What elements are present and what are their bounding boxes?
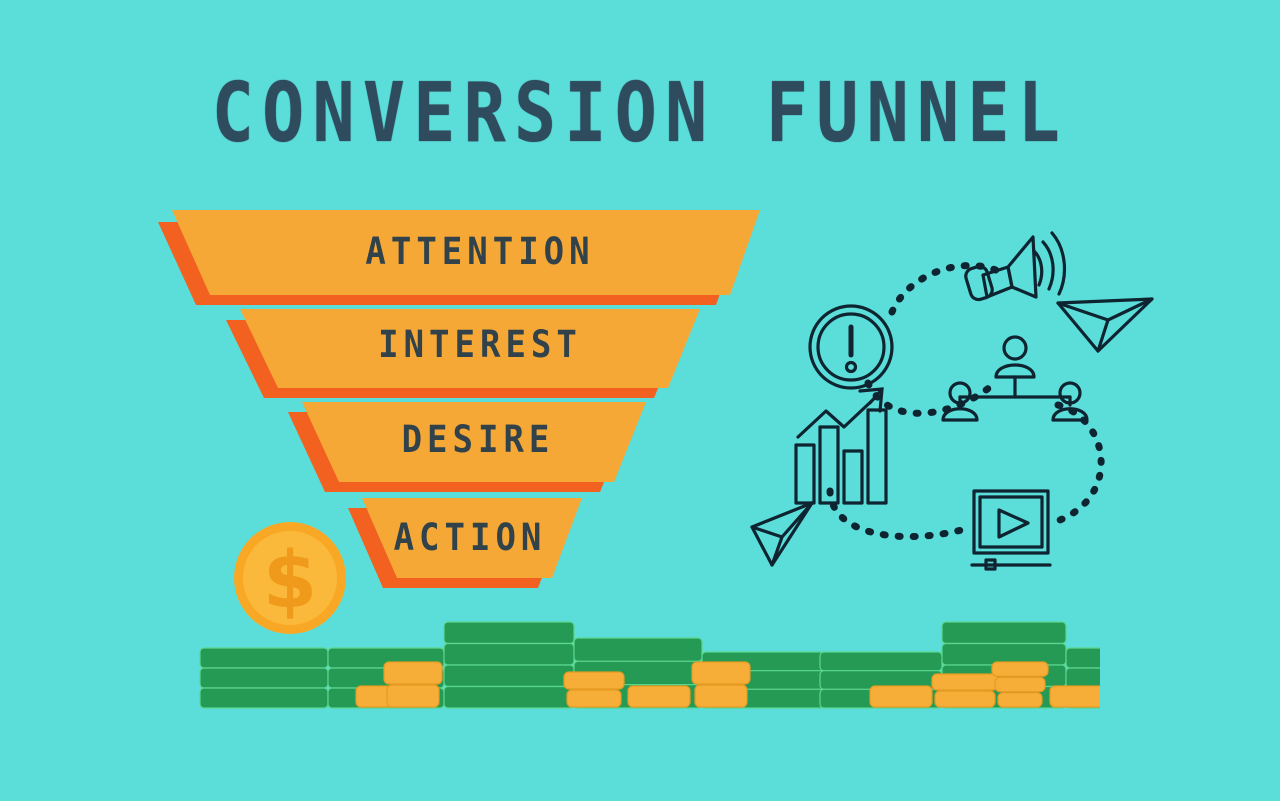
marketing-icon-cluster — [740, 215, 1180, 575]
bill-stack — [444, 622, 574, 708]
banknote — [444, 622, 574, 644]
coin-row — [692, 662, 750, 684]
coin-row — [932, 674, 998, 690]
coin-row — [870, 686, 932, 707]
banknote — [200, 668, 328, 688]
coin-pile — [564, 672, 624, 707]
funnel-stage-action-label: ACTION — [320, 516, 620, 560]
coin-row — [628, 686, 690, 707]
conversion-funnel-infographic: CONVERSION FUNNEL ATTENTION INTEREST DES… — [0, 0, 1280, 801]
bar-chart-growth-icon — [796, 389, 886, 503]
coin-row — [995, 677, 1045, 691]
bill-stack — [200, 648, 328, 708]
coin-pile — [384, 662, 442, 707]
banknote — [444, 644, 574, 666]
banknote — [1066, 648, 1100, 668]
coin-row — [695, 685, 747, 707]
coin-row — [567, 690, 621, 707]
banknote — [574, 638, 702, 661]
paper-plane-icon — [1058, 299, 1152, 351]
coin-pile — [992, 662, 1048, 707]
banknote — [444, 687, 574, 709]
video-player-icon — [972, 491, 1050, 569]
megaphone-icon — [964, 233, 1065, 302]
coin-row — [387, 685, 439, 707]
coin-row — [384, 662, 442, 684]
coin-pile — [932, 674, 998, 707]
people-network-icon — [943, 337, 1087, 420]
coin-row — [1050, 686, 1100, 707]
coin-row — [992, 662, 1048, 676]
paper-plane-icon — [752, 503, 812, 565]
coin-row — [564, 672, 624, 689]
banknote — [200, 688, 328, 708]
page-title: CONVERSION FUNNEL — [51, 72, 1229, 154]
banknote — [200, 648, 328, 668]
exclamation-circle-icon — [810, 306, 892, 388]
coin-pile — [692, 662, 750, 707]
banknote — [942, 622, 1066, 644]
dotted-path — [830, 491, 972, 537]
coin-pile — [1050, 686, 1100, 707]
banknote — [444, 665, 574, 687]
coin-pile — [870, 686, 932, 707]
banknote — [820, 652, 942, 671]
coin-pile — [628, 686, 690, 707]
funnel-stage-desire-label: DESIRE — [318, 418, 638, 462]
coin-row — [998, 693, 1042, 707]
dotted-path — [1058, 405, 1101, 520]
coin-row — [935, 691, 995, 707]
banknote — [1066, 668, 1100, 688]
funnel-stage-interest-label: INTEREST — [300, 323, 660, 367]
funnel-stage-attention-label: ATTENTION — [280, 230, 680, 274]
money-stacks-graphic — [180, 600, 1100, 730]
